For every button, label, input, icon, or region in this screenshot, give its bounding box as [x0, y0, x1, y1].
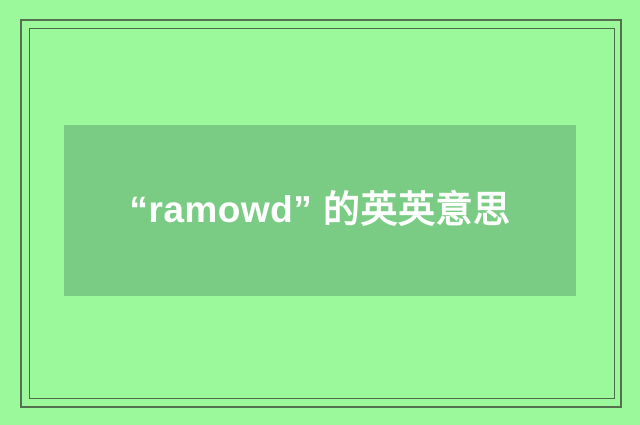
- poster-canvas: “ramowd” 的英英意思: [0, 0, 640, 425]
- title-panel: “ramowd” 的英英意思: [64, 125, 576, 296]
- page-title: “ramowd” 的英英意思: [64, 184, 576, 237]
